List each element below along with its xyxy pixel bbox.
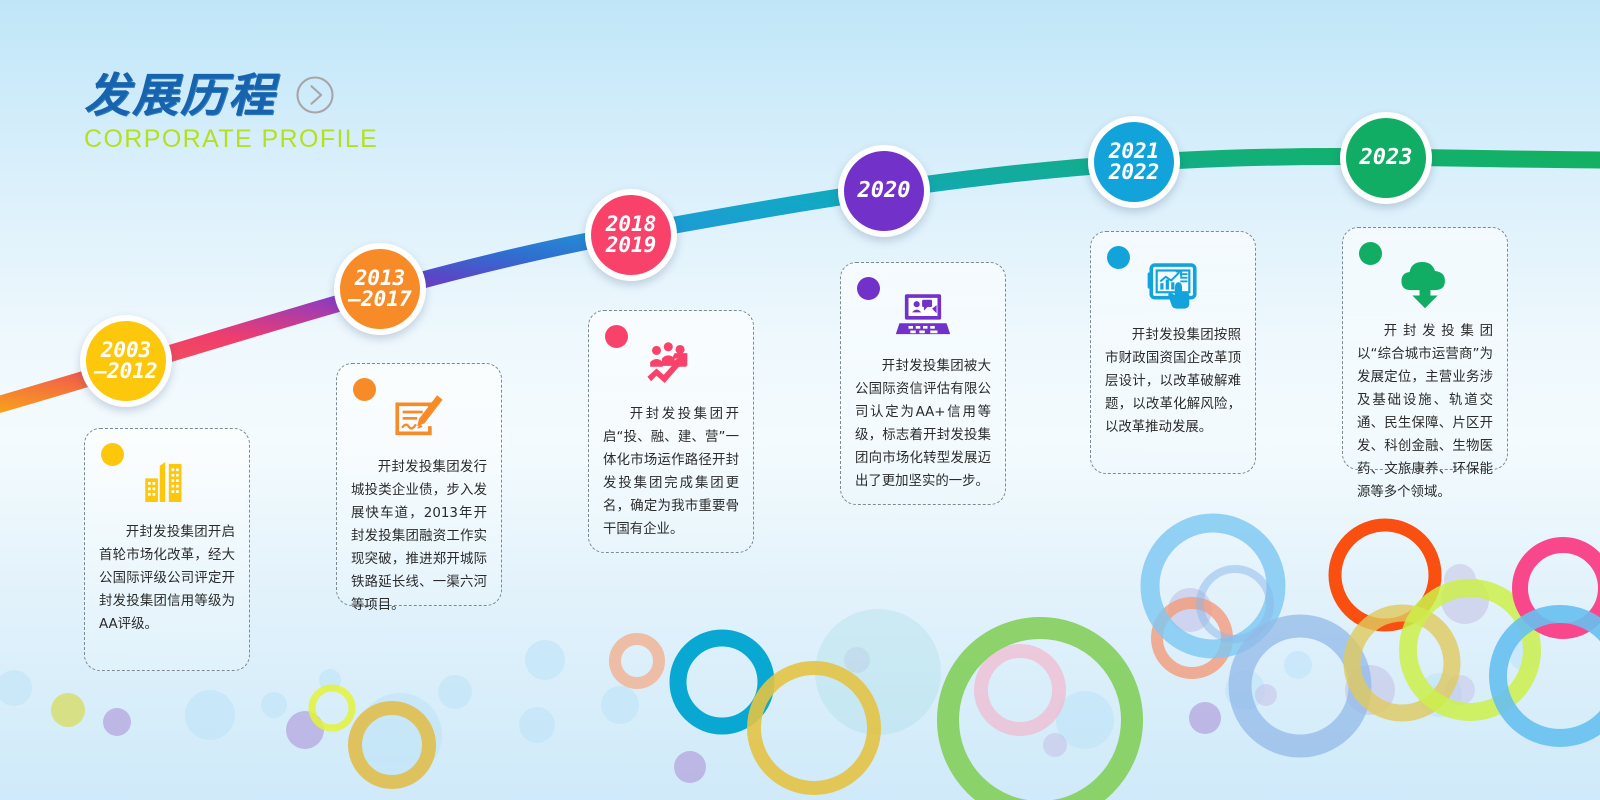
timeline-node-year: 2003	[101, 340, 152, 361]
timeline-card-c2021[interactable]: 开封发投集团按照市财政国资国企改革顶层设计，以改革破解难题，以改革化解风险，以改…	[1090, 231, 1256, 474]
timeline-node-badge: 20212022	[1094, 122, 1174, 202]
chevron-right-circle-icon[interactable]	[294, 74, 336, 116]
timeline-card-c2023[interactable]: 开封发投集团以“综合城市运营商”为发展定位，主营业务涉及基础设施、轨道交通、民生…	[1342, 227, 1508, 470]
infographic-canvas: 发展历程 CORPORATE PROFILE 2003—20122013—201…	[0, 0, 1600, 800]
card-description: 开封发投集团开启“投、融、建、营”一体化市场运作路径开封发投集团完成集团更名，确…	[603, 403, 739, 541]
card-description: 开封发投集团发行城投类企业债，步入发展快车道，2013年开封发投集团融资工作实现…	[351, 456, 487, 617]
timeline-node-n2018[interactable]: 20182019	[585, 189, 677, 281]
timeline-card-c2013[interactable]: 开封发投集团发行城投类企业债，步入发展快车道，2013年开封发投集团融资工作实现…	[336, 363, 502, 606]
timeline-node-n2021[interactable]: 20212022	[1088, 116, 1180, 208]
timeline-node-badge: 2023	[1346, 118, 1426, 198]
card-accent-dot	[605, 325, 628, 348]
card-accent-dot	[1359, 242, 1382, 265]
timeline-node-year: 2023	[1360, 147, 1413, 169]
timeline-node-year: 2022	[1109, 162, 1160, 183]
card-accent-dot	[1107, 246, 1130, 269]
card-accent-dot	[857, 277, 880, 300]
timeline-node-n2023[interactable]: 2023	[1340, 112, 1432, 204]
page-title: 发展历程	[84, 72, 276, 118]
card-accent-dot	[101, 443, 124, 466]
timeline-node-badge: 2020	[844, 151, 924, 231]
timeline-node-badge: 20182019	[591, 195, 671, 275]
card-description: 开封发投集团按照市财政国资国企改革顶层设计，以改革破解难题，以改革化解风险，以改…	[1105, 324, 1241, 439]
timeline-card-c2020[interactable]: 开封发投集团被大公国际资信评估有限公司认定为AA+信用等级，标志着开封发投集团向…	[840, 262, 1006, 505]
timeline-node-year: 2018	[606, 214, 657, 235]
page-subtitle: CORPORATE PROFILE	[84, 127, 378, 152]
timeline-node-n2003[interactable]: 2003—2012	[80, 315, 172, 407]
card-description: 开封发投集团被大公国际资信评估有限公司认定为AA+信用等级，标志着开封发投集团向…	[855, 355, 991, 493]
card-accent-dot	[353, 378, 376, 401]
timeline-node-badge: 2013—2017	[340, 249, 420, 329]
timeline-node-year: 2013	[355, 268, 406, 289]
timeline-node-n2020[interactable]: 2020	[838, 145, 930, 237]
timeline-card-c2018[interactable]: 开封发投集团开启“投、融、建、营”一体化市场运作路径开封发投集团完成集团更名，确…	[588, 310, 754, 553]
timeline-node-year: —2012	[94, 361, 157, 382]
timeline-node-year: 2021	[1109, 141, 1160, 162]
timeline-node-year: 2019	[606, 235, 657, 256]
timeline-node-year: 2020	[858, 180, 911, 202]
timeline-node-n2013[interactable]: 2013—2017	[334, 243, 426, 335]
timeline-node-year: —2017	[348, 289, 411, 310]
page-title-block: 发展历程 CORPORATE PROFILE	[84, 72, 378, 152]
card-description: 开封发投集团开启首轮市场化改革，经大公国际评级公司评定开封发投集团信用等级为AA…	[99, 521, 235, 636]
timeline-node-badge: 2003—2012	[86, 321, 166, 401]
timeline-card-c2003[interactable]: 开封发投集团开启首轮市场化改革，经大公国际评级公司评定开封发投集团信用等级为AA…	[84, 428, 250, 671]
card-description: 开封发投集团以“综合城市运营商”为发展定位，主营业务涉及基础设施、轨道交通、民生…	[1357, 320, 1493, 504]
